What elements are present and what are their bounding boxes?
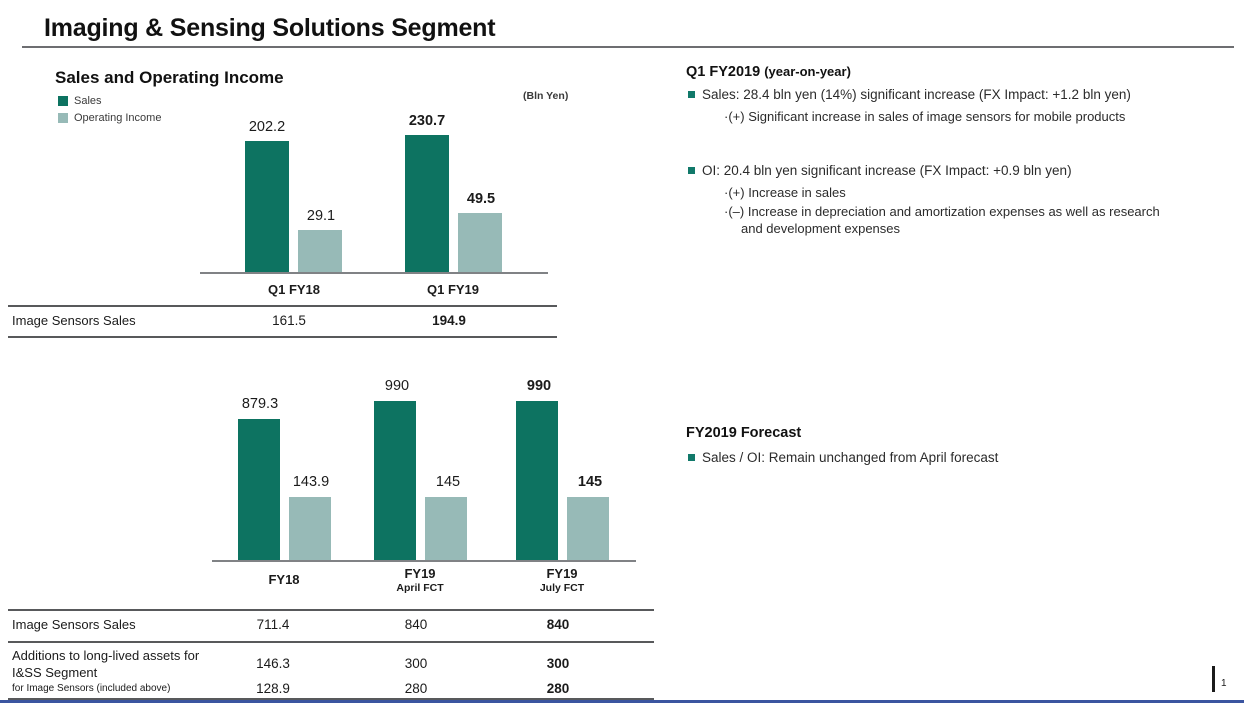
fy2019-forecast-heading: FY2019 Forecast: [686, 425, 801, 441]
page-number-tick: [1212, 666, 1215, 692]
chart2-table-row2-cell-fy19-april: 300: [366, 656, 466, 671]
chart2-table: Image Sensors Sales 711.4 840 840 Additi…: [0, 0, 668, 706]
q1-fy2019-heading-light: (year-on-year): [764, 64, 851, 79]
bullet-square-icon: [688, 91, 695, 98]
q1-fy2019-heading-bold: Q1 FY2019: [686, 64, 760, 80]
chart2-table-row1-cell-fy19-july: 840: [508, 617, 608, 632]
chart2-table-row1-cell-fy19-april: 840: [366, 617, 466, 632]
footer-divider: [0, 700, 1244, 703]
q1-sub-oi-minus-line1: ·(–) Increase in depreciation and amorti…: [724, 203, 1244, 221]
chart2-table-row2-cell-fy18: 146.3: [223, 656, 323, 671]
forecast-bullet-text: Sales / OI: Remain unchanged from April …: [702, 449, 998, 467]
chart2-table-row2-label-line2: I&SS Segment: [12, 665, 97, 680]
q1-sub-sales-plus: ·(+) Significant increase in sales of im…: [724, 108, 1244, 126]
forecast-bullet: Sales / OI: Remain unchanged from April …: [688, 449, 1240, 467]
chart2-table-row3-cell-fy18: 128.9: [223, 681, 323, 696]
bullet-square-icon: [688, 454, 695, 461]
chart2-table-row2-label-line3: for Image Sensors (included above): [12, 683, 170, 694]
chart2-table-row2-label-line1: Additions to long-lived assets for: [12, 648, 199, 663]
chart2-table-rule-mid: [8, 641, 654, 643]
chart2-table-rule-top: [8, 609, 654, 611]
page-number: 1: [1221, 678, 1227, 689]
q1-bullet-oi: OI: 20.4 bln yen significant increase (F…: [688, 162, 1240, 180]
chart2-table-row1-label: Image Sensors Sales: [12, 617, 136, 632]
q1-fy2019-heading: Q1 FY2019 (year-on-year): [686, 64, 851, 80]
q1-sub-oi-minus-line2: and development expenses: [741, 220, 1244, 238]
q1-sub-oi-plus: ·(+) Increase in sales: [724, 184, 1244, 202]
chart2-table-row2-cell-fy19-july: 300: [508, 656, 608, 671]
bullet-square-icon: [688, 167, 695, 174]
chart2-table-row3-cell-fy19-april: 280: [366, 681, 466, 696]
chart2-table-row1-cell-fy18: 711.4: [223, 617, 323, 632]
q1-bullet-oi-text: OI: 20.4 bln yen significant increase (F…: [702, 162, 1072, 180]
chart2-table-row3-cell-fy19-july: 280: [508, 681, 608, 696]
q1-bullet-sales: Sales: 28.4 bln yen (14%) significant in…: [688, 86, 1240, 104]
right-column: Q1 FY2019 (year-on-year) Sales: 28.4 bln…: [686, 0, 1244, 706]
q1-bullet-sales-text: Sales: 28.4 bln yen (14%) significant in…: [702, 86, 1131, 104]
left-column: Sales and Operating Income Sales Operati…: [0, 0, 668, 706]
